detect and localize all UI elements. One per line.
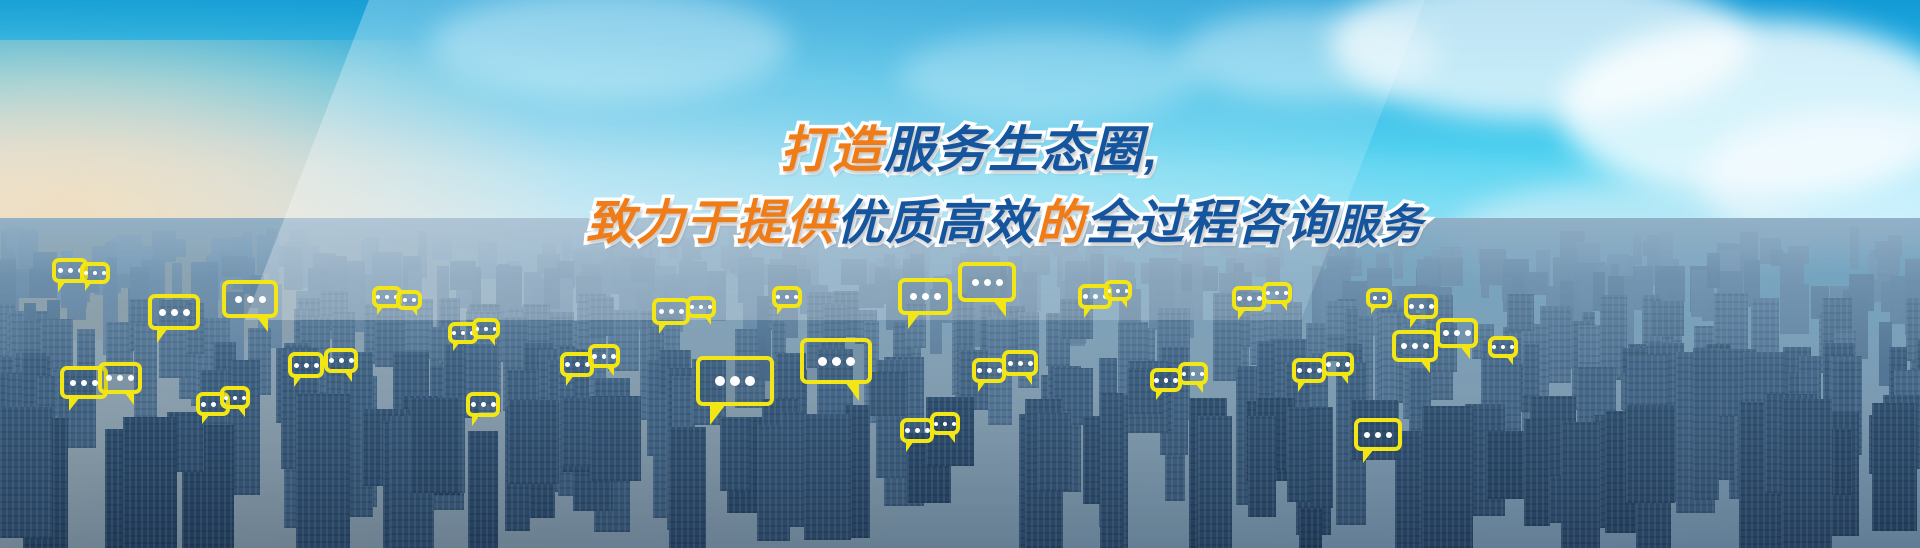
speech-bubble-tail xyxy=(947,433,955,443)
speech-bubble-dot xyxy=(1116,289,1119,293)
speech-bubble-dot xyxy=(1419,304,1424,309)
speech-bubble-dot xyxy=(128,375,134,381)
speech-bubble-dot xyxy=(385,295,389,299)
speech-bubble-tail xyxy=(1420,360,1430,373)
speech-bubble-tail xyxy=(710,404,726,425)
speech-bubble-20 xyxy=(696,356,774,406)
speech-bubble-tail xyxy=(777,306,784,315)
speech-bubble-17 xyxy=(588,344,620,368)
speech-bubble-dot xyxy=(1409,304,1414,309)
speech-bubble-dot xyxy=(1364,432,1370,438)
speech-bubble-tail xyxy=(1120,299,1127,308)
speech-bubble-18 xyxy=(652,298,690,325)
speech-bubble-dot xyxy=(952,422,956,426)
speech-bubble-dot xyxy=(1200,372,1204,376)
speech-bubble-tail xyxy=(993,300,1006,317)
speech-bubble-tail xyxy=(1084,307,1092,318)
speech-bubble-24 xyxy=(958,262,1016,302)
speech-bubble-dot xyxy=(1336,362,1341,367)
building xyxy=(1507,294,1534,331)
speech-bubble-dot xyxy=(1284,291,1288,295)
speech-bubble-dot xyxy=(832,357,841,366)
speech-bubble-body xyxy=(222,280,278,318)
speech-bubble-tail xyxy=(85,282,92,291)
speech-bubble-dot xyxy=(201,402,206,407)
speech-bubble-dot xyxy=(102,271,106,275)
speech-bubble-tail xyxy=(488,337,495,346)
speech-bubble-dot xyxy=(794,295,798,299)
building xyxy=(1561,422,1600,548)
building xyxy=(1248,416,1276,517)
speech-bubble-body xyxy=(1002,350,1038,376)
speech-bubble-dot xyxy=(1317,368,1322,373)
building xyxy=(1650,301,1684,336)
speech-bubble-dot xyxy=(977,368,982,373)
speech-bubble-dot xyxy=(1345,362,1350,367)
building xyxy=(1417,259,1439,285)
speech-bubble-dot xyxy=(910,293,917,300)
speech-bubble-dot xyxy=(1154,378,1159,383)
speech-bubble-dot xyxy=(233,396,237,400)
speech-bubble-38 xyxy=(1392,330,1438,362)
building xyxy=(168,239,186,258)
speech-bubble-tail xyxy=(1298,381,1306,392)
speech-bubble-dot xyxy=(905,428,910,433)
building xyxy=(1707,253,1720,288)
speech-bubble-body xyxy=(1392,330,1438,362)
building xyxy=(468,431,498,548)
building xyxy=(1524,272,1548,295)
speech-bubble-dot xyxy=(117,375,123,381)
building xyxy=(1422,406,1473,548)
speech-bubble-dot xyxy=(493,327,496,331)
speech-bubble-dot xyxy=(708,305,712,309)
speech-bubble-tail xyxy=(202,414,210,424)
speech-bubble-dot xyxy=(602,354,607,359)
speech-bubble-35 xyxy=(1232,286,1266,311)
speech-bubble-body xyxy=(930,412,960,435)
building xyxy=(1693,348,1719,501)
speech-bubble-dot xyxy=(1423,343,1429,349)
speech-bubble-dot xyxy=(481,402,486,407)
speech-bubble-dot xyxy=(84,271,88,275)
building xyxy=(1849,274,1874,310)
speech-bubble-dot xyxy=(247,296,254,303)
speech-bubble-30 xyxy=(1104,280,1132,301)
speech-bubble-tail xyxy=(1460,346,1470,359)
speech-bubble-dot xyxy=(58,268,63,273)
building xyxy=(0,407,52,538)
speech-bubble-dot xyxy=(679,309,684,314)
speech-bubble-27 xyxy=(972,358,1006,383)
speech-bubble-tail xyxy=(58,281,66,292)
building xyxy=(1100,393,1124,548)
building xyxy=(1524,419,1550,526)
speech-bubble-tail xyxy=(69,397,80,411)
speech-bubble-body xyxy=(324,348,358,373)
speech-bubble-dot xyxy=(1326,362,1331,367)
speech-bubble-tail xyxy=(472,415,480,426)
building xyxy=(757,425,790,541)
speech-bubble-dot xyxy=(1429,304,1434,309)
speech-bubble-tail xyxy=(978,381,986,392)
building xyxy=(869,372,908,416)
speech-bubble-body xyxy=(472,318,500,339)
speech-bubble-tail xyxy=(1238,309,1246,320)
building xyxy=(1438,258,1463,286)
speech-bubble-dot xyxy=(1373,296,1377,300)
speech-bubble-42 xyxy=(1488,336,1518,358)
speech-bubble-tail xyxy=(256,316,268,332)
speech-bubble-dot xyxy=(224,396,228,400)
speech-bubble-dot xyxy=(1093,294,1098,299)
speech-bubble-dot xyxy=(934,422,938,426)
speech-bubble-dot xyxy=(1454,330,1460,336)
speech-bubble-dot xyxy=(972,279,979,286)
speech-bubble-body xyxy=(80,262,110,284)
speech-bubble-body xyxy=(696,356,774,406)
speech-bubble-tail xyxy=(606,366,614,376)
speech-bubble-dot xyxy=(1375,432,1381,438)
speech-bubble-8 xyxy=(220,386,250,409)
speech-bubble-dot xyxy=(329,358,334,363)
speech-bubble-body xyxy=(1436,318,1478,348)
speech-bubble-dot xyxy=(1028,361,1033,366)
speech-bubble-body xyxy=(1322,352,1354,376)
speech-bubble-dot xyxy=(1083,294,1088,299)
speech-bubble-33 xyxy=(1292,358,1326,383)
speech-bubble-tail xyxy=(294,376,302,387)
building xyxy=(1394,230,1404,279)
speech-bubble-dot xyxy=(1297,368,1302,373)
speech-bubble-25 xyxy=(900,418,934,443)
speech-bubble-tail xyxy=(1371,306,1377,314)
speech-bubble-14 xyxy=(472,318,500,339)
speech-bubble-dot xyxy=(471,402,476,407)
speech-bubble-body xyxy=(1104,280,1132,301)
speech-bubble-dot xyxy=(1182,372,1186,376)
diagonal-overlay-panel xyxy=(245,0,1425,320)
speech-bubble-body xyxy=(1354,418,1402,451)
speech-bubble-body xyxy=(220,386,250,409)
speech-bubble-dot xyxy=(259,296,266,303)
building xyxy=(410,398,460,493)
speech-bubble-body xyxy=(1366,288,1392,308)
speech-bubble-dot xyxy=(818,357,827,366)
building xyxy=(1198,416,1232,548)
speech-bubble-dot xyxy=(785,295,789,299)
speech-bubble-tail xyxy=(411,308,417,316)
speech-bubble-32 xyxy=(1178,362,1208,385)
speech-bubble-dot xyxy=(314,363,319,368)
speech-bubble-dot xyxy=(1401,343,1407,349)
speech-bubble-dot xyxy=(1018,361,1023,366)
speech-bubble-tail xyxy=(1280,302,1287,311)
speech-bubble-body xyxy=(1404,294,1438,319)
building xyxy=(1523,344,1539,396)
building xyxy=(508,400,559,485)
speech-bubble-dot xyxy=(1275,291,1279,295)
speech-bubble-tail xyxy=(1363,449,1374,463)
building xyxy=(1626,405,1675,503)
speech-bubble-tail xyxy=(453,342,460,351)
speech-bubble-dot xyxy=(70,380,76,386)
speech-bubble-tail xyxy=(1156,390,1164,400)
speech-bubble-body xyxy=(1488,336,1518,358)
speech-bubble-dot xyxy=(491,402,496,407)
speech-bubble-body xyxy=(900,418,934,443)
speech-bubble-dot xyxy=(242,396,246,400)
building xyxy=(1287,407,1310,502)
speech-bubble-body xyxy=(1232,286,1266,311)
building xyxy=(123,417,177,548)
speech-bubble-body xyxy=(288,352,324,378)
speech-bubble-dot xyxy=(304,363,309,368)
speech-bubble-39 xyxy=(1404,294,1438,319)
speech-bubble-dot xyxy=(1125,289,1128,293)
speech-bubble-dot xyxy=(1237,296,1242,301)
speech-bubble-dot xyxy=(669,309,674,314)
speech-bubble-dot xyxy=(81,380,87,386)
speech-bubble-dot xyxy=(915,428,920,433)
building xyxy=(720,417,750,491)
speech-bubble-tail xyxy=(906,441,914,452)
speech-bubble-dot xyxy=(171,309,178,316)
speech-bubble-4 xyxy=(222,280,278,318)
speech-bubble-19 xyxy=(686,296,716,318)
hero-banner: 打造服务生态圈, 致力于提供优质高效的全过程咨询服务 xyxy=(0,0,1920,548)
building xyxy=(1038,413,1071,491)
speech-bubble-body xyxy=(1262,282,1292,304)
speech-bubble-dot xyxy=(106,375,112,381)
speech-bubble-body xyxy=(1178,362,1208,385)
speech-bubble-2 xyxy=(80,262,110,284)
speech-bubble-body xyxy=(466,392,500,417)
speech-bubble-dot xyxy=(690,305,694,309)
speech-bubble-28 xyxy=(1002,350,1038,376)
speech-bubble-dot xyxy=(349,358,354,363)
speech-bubble-23 xyxy=(898,278,952,315)
speech-bubble-dot xyxy=(1266,291,1270,295)
speech-bubble-40 xyxy=(1436,318,1478,348)
speech-bubble-tail xyxy=(566,375,574,386)
building xyxy=(1782,399,1832,548)
speech-bubble-tail xyxy=(1340,374,1348,384)
speech-bubble-tail xyxy=(377,306,384,315)
speech-bubble-dot xyxy=(183,309,190,316)
speech-bubble-dot xyxy=(1257,296,1262,301)
speech-bubble-dot xyxy=(211,402,216,407)
speech-bubble-dot xyxy=(699,305,703,309)
speech-bubble-dot xyxy=(339,358,344,363)
speech-bubble-tail xyxy=(1506,356,1513,365)
speech-bubble-6 xyxy=(98,362,142,394)
speech-bubble-dot xyxy=(1510,345,1514,349)
speech-bubble-body xyxy=(800,338,872,384)
speech-bubble-dot xyxy=(575,362,580,367)
building xyxy=(231,360,259,496)
speech-bubble-body xyxy=(686,296,716,318)
speech-bubble-tail xyxy=(237,407,245,417)
building xyxy=(1850,226,1859,269)
speech-bubble-dot xyxy=(461,331,465,335)
speech-bubble-dot xyxy=(1386,432,1392,438)
speech-bubble-26 xyxy=(930,412,960,435)
speech-bubble-dot xyxy=(943,422,947,426)
building xyxy=(1780,284,1809,334)
building xyxy=(669,427,706,548)
building xyxy=(1577,242,1600,263)
speech-bubble-dot xyxy=(730,376,740,386)
speech-bubble-dot xyxy=(984,279,991,286)
speech-bubble-dot xyxy=(745,376,755,386)
building xyxy=(296,394,350,548)
speech-bubble-body xyxy=(396,290,422,310)
speech-bubble-tail xyxy=(157,328,168,343)
speech-bubble-dot xyxy=(476,327,479,331)
speech-bubble-41 xyxy=(1366,288,1392,308)
speech-bubble-10 xyxy=(324,348,358,373)
speech-bubble-dot xyxy=(846,357,855,366)
building xyxy=(590,396,641,480)
speech-bubble-dot xyxy=(1465,330,1471,336)
speech-bubble-dot xyxy=(925,428,930,433)
building xyxy=(1486,431,1524,499)
speech-bubble-body xyxy=(588,344,620,368)
speech-bubble-dot xyxy=(1492,345,1496,349)
speech-bubble-dot xyxy=(235,296,242,303)
speech-bubble-dot xyxy=(996,279,1003,286)
speech-bubble-dot xyxy=(715,376,725,386)
speech-bubble-dot xyxy=(93,271,97,275)
speech-bubble-dot xyxy=(997,368,1002,373)
speech-bubble-body xyxy=(1292,358,1326,383)
speech-bubble-dot xyxy=(987,368,992,373)
speech-bubble-tail xyxy=(1195,383,1203,393)
speech-bubble-tail xyxy=(1410,317,1418,328)
speech-bubble-tail xyxy=(344,371,352,382)
speech-bubble-12 xyxy=(396,290,422,310)
speech-bubble-dot xyxy=(376,295,380,299)
speech-bubble-dot xyxy=(1164,378,1169,383)
speech-bubble-dot xyxy=(159,309,166,316)
speech-bubble-dot xyxy=(922,293,929,300)
building xyxy=(804,414,851,540)
speech-bubble-body xyxy=(958,262,1016,302)
speech-bubble-36 xyxy=(1262,282,1292,304)
speech-bubble-21 xyxy=(772,286,802,308)
speech-bubble-body xyxy=(772,286,802,308)
speech-bubble-22 xyxy=(800,338,872,384)
speech-bubble-dot xyxy=(592,354,597,359)
speech-bubble-dot xyxy=(776,295,780,299)
speech-bubble-body xyxy=(98,362,142,394)
speech-bubble-dot xyxy=(1501,345,1505,349)
speech-bubble-9 xyxy=(288,352,324,378)
speech-bubble-tail xyxy=(704,316,711,325)
speech-bubble-dot xyxy=(294,363,299,368)
speech-bubble-34 xyxy=(1322,352,1354,376)
speech-bubble-dot xyxy=(1247,296,1252,301)
speech-bubble-body xyxy=(148,294,200,330)
speech-bubble-dot xyxy=(484,327,487,331)
speech-bubble-dot xyxy=(934,293,941,300)
speech-bubble-dot xyxy=(1108,289,1111,293)
speech-bubble-dot xyxy=(1443,330,1449,336)
building xyxy=(1888,235,1902,257)
speech-bubble-37 xyxy=(1354,418,1402,451)
speech-bubble-dot xyxy=(659,309,664,314)
speech-bubble-dot xyxy=(1191,372,1195,376)
speech-bubble-dot xyxy=(1382,296,1386,300)
speech-bubble-dot xyxy=(403,298,407,302)
speech-bubble-15 xyxy=(466,392,500,417)
speech-bubble-3 xyxy=(148,294,200,330)
speech-bubble-dot xyxy=(412,298,416,302)
speech-bubble-dot xyxy=(565,362,570,367)
speech-bubble-tail xyxy=(124,392,134,405)
speech-bubble-dot xyxy=(1307,368,1312,373)
speech-bubble-tail xyxy=(659,323,667,334)
speech-bubble-dot xyxy=(611,354,616,359)
speech-bubble-body xyxy=(898,278,952,315)
speech-bubble-body xyxy=(972,358,1006,383)
speech-bubble-dot xyxy=(452,331,456,335)
speech-bubble-tail xyxy=(845,382,859,401)
speech-bubble-body xyxy=(652,298,690,325)
speech-bubble-dot xyxy=(1412,343,1418,349)
speech-bubble-tail xyxy=(908,313,920,329)
speech-bubble-tail xyxy=(1024,374,1032,385)
speech-bubble-dot xyxy=(1008,361,1013,366)
speech-bubble-dot xyxy=(68,268,73,273)
building xyxy=(1872,403,1917,530)
